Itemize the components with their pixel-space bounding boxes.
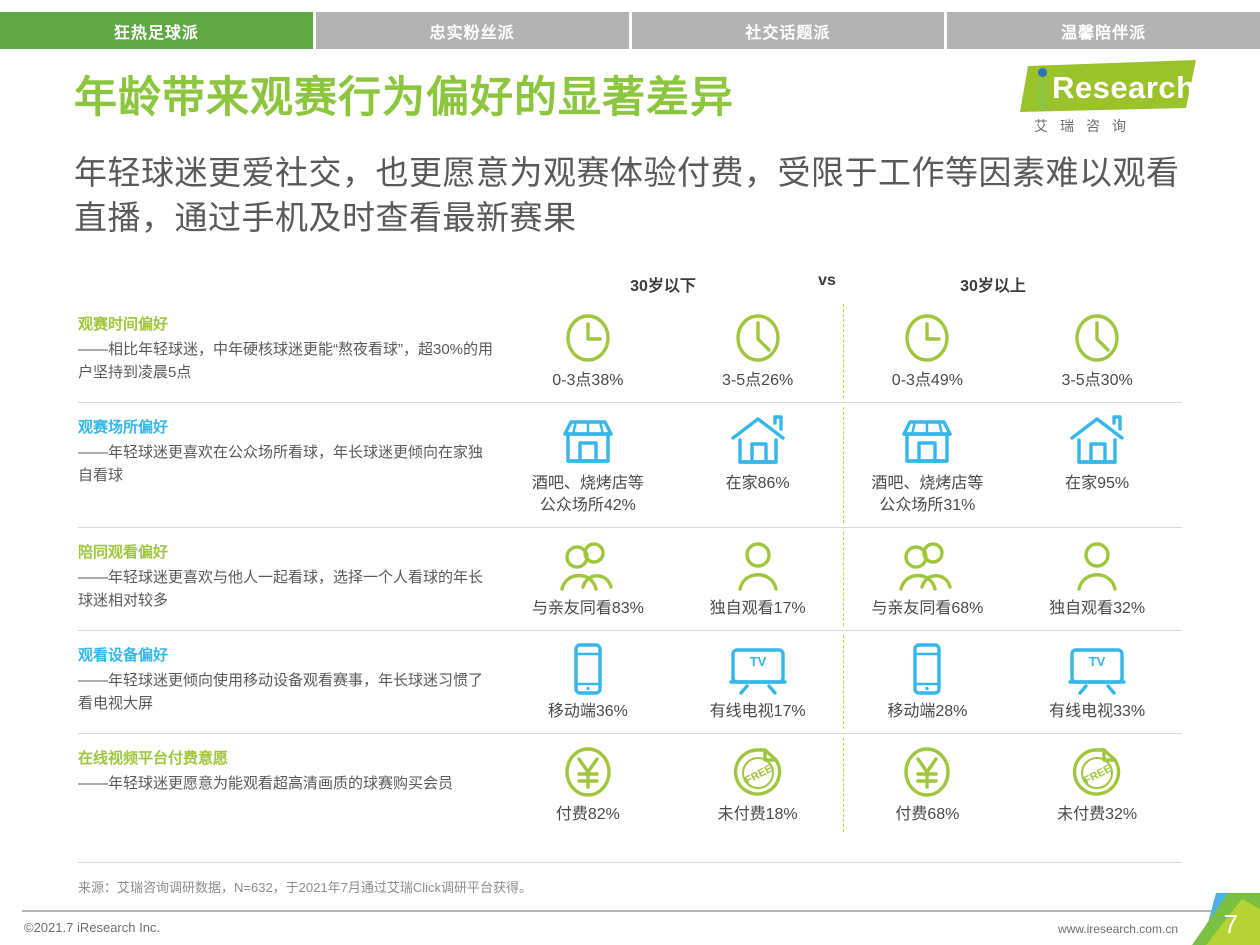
metric-label: 3-5点30% [1062,370,1133,392]
page-number: 7 [1224,911,1238,937]
shop-icon [896,413,958,469]
row-description: 在线视频平台付费意愿——年轻球迷更愿意为能观看超高清画质的球赛购买会员 [78,734,503,807]
row-body: ——相比年轻球迷，中年硬核球迷更能“熬夜看球”，超30%的用户坚持到凌晨5点 [78,338,493,384]
row-body: ——年轻球迷更倾向使用移动设备观看赛事，年长球迷习惯了看电视大屏 [78,669,493,715]
tab-1[interactable]: 忠实粉丝派 [316,12,629,49]
yen-coin-icon [900,744,954,800]
row-description: 陪同观看偏好——年轻球迷更喜欢与他人一起看球，选择一个人看球的年长球迷相对较多 [78,528,503,624]
svg-text:TV: TV [749,654,766,669]
metric-cell: 独自观看17% [673,528,843,630]
row-body: ——年轻球迷更愿意为能观看超高清画质的球赛购买会员 [78,772,493,795]
tv-icon: TV [727,641,789,697]
matrix-row: 观看设备偏好——年轻球迷更倾向使用移动设备观看赛事，年长球迷习惯了看电视大屏移动… [78,630,1182,733]
column-header-vs: vs [782,272,872,290]
comparison-matrix: 观赛时间偏好——相比年轻球迷，中年硬核球迷更能“熬夜看球”，超30%的用户坚持到… [78,300,1182,836]
two-people-icon [557,538,619,594]
row-body: ——年轻球迷更喜欢与他人一起看球，选择一个人看球的年长球迷相对较多 [78,566,493,612]
metric-label: 0-3点49% [892,370,963,392]
mobile-phone-icon [908,641,946,697]
metric-label: 付费82% [556,804,620,826]
logo-research-text: Research [1052,70,1196,106]
row-title: 观赛时间偏好 [78,314,493,336]
metric-cell: 酒吧、烧烤店等公众场所42% [503,403,673,527]
row-description: 观看设备偏好——年轻球迷更倾向使用移动设备观看赛事，年长球迷习惯了看电视大屏 [78,631,503,727]
source-note: 来源：艾瑞咨询调研数据，N=632，于2021年7月通过艾瑞Click调研平台获… [78,878,1078,898]
row-cells: 与亲友同看83%独自观看17%与亲友同看68%独自观看32% [503,528,1182,630]
column-header-left: 30岁以下 [563,272,763,296]
metric-cell: FREE未付费18% [673,734,843,836]
metric-cell: 独自观看32% [1012,528,1182,630]
house-icon [728,413,788,469]
metric-cell: 0-3点38% [503,300,673,402]
metric-label: 有线电视17% [710,701,806,723]
tab-bar: 狂热足球派忠实粉丝派社交话题派温馨陪伴派 [0,12,1260,49]
footer-divider [22,910,1238,912]
row-body: ——年轻球迷更喜欢在公众场所看球，年长球迷更倾向在家独自看球 [78,441,493,487]
metric-cell: FREE未付费32% [1012,734,1182,836]
row-title: 观看设备偏好 [78,645,493,667]
two-people-icon [896,538,958,594]
free-sticker-icon: FREE [731,744,785,800]
clock-3oclock-icon [562,310,614,366]
logo-chinese-text: 艾瑞咨询 [1034,116,1198,136]
row-description: 观赛时间偏好——相比年轻球迷，中年硬核球迷更能“熬夜看球”，超30%的用户坚持到… [78,300,503,396]
metric-cell: 移动端36% [503,631,673,733]
tv-icon: TV [1066,641,1128,697]
iresearch-logo: Research 艾瑞咨询 [1018,60,1198,142]
group-divider [843,738,844,832]
metric-label: 0-3点38% [552,370,623,392]
metric-cell: 付费68% [843,734,1013,836]
metric-cell: 付费82% [503,734,673,836]
clock-3oclock-icon [901,310,953,366]
matrix-row: 陪同观看偏好——年轻球迷更喜欢与他人一起看球，选择一个人看球的年长球迷相对较多与… [78,527,1182,630]
metric-cell: 3-5点26% [673,300,843,402]
tab-2[interactable]: 社交话题派 [632,12,945,49]
group-divider [843,635,844,729]
metric-cell: 0-3点49% [843,300,1013,402]
row-title: 在线视频平台付费意愿 [78,748,493,770]
logo-i-dot-icon [1038,68,1047,77]
row-title: 陪同观看偏好 [78,542,493,564]
svg-text:TV: TV [1089,654,1106,669]
metric-label: 独自观看32% [1049,598,1145,620]
metric-label: 在家95% [1065,473,1129,495]
house-icon [1067,413,1127,469]
metric-label: 付费68% [895,804,959,826]
metric-label: 酒吧、烧烤店等公众场所42% [525,473,650,517]
metric-label: 有线电视33% [1049,701,1145,723]
matrix-row: 在线视频平台付费意愿——年轻球迷更愿意为能观看超高清画质的球赛购买会员付费82%… [78,733,1182,836]
metric-cell: 3-5点30% [1012,300,1182,402]
column-header-right: 30岁以上 [893,272,1093,296]
free-sticker-icon: FREE [1070,744,1124,800]
metric-cell: TV有线电视33% [1012,631,1182,733]
metric-label: 与亲友同看68% [871,598,983,620]
row-cells: 移动端36%TV有线电视17%移动端28%TV有线电视33% [503,631,1182,733]
slide: 狂热足球派忠实粉丝派社交话题派温馨陪伴派 年龄带来观赛行为偏好的显著差异 年轻球… [0,0,1260,945]
footer-copyright: ©2021.7 iResearch Inc. [24,920,160,935]
metric-label: 与亲友同看83% [532,598,644,620]
group-divider [843,407,844,523]
clock-5oclock-icon [1071,310,1123,366]
page-subtitle: 年轻球迷更爱社交，也更愿意为观赛体验付费，受限于工作等因素难以观看直播，通过手机… [74,150,1184,240]
yen-coin-icon [561,744,615,800]
shop-icon [557,413,619,469]
matrix-row: 观赛时间偏好——相比年轻球迷，中年硬核球迷更能“熬夜看球”，超30%的用户坚持到… [78,300,1182,402]
row-title: 观赛场所偏好 [78,417,493,439]
group-divider [843,532,844,626]
row-cells: 酒吧、烧烤店等公众场所42%在家86%酒吧、烧烤店等公众场所31%在家95% [503,403,1182,527]
metric-cell: 在家95% [1012,403,1182,505]
group-divider [843,304,844,398]
single-person-icon [1072,538,1122,594]
metric-label: 酒吧、烧烤店等公众场所31% [865,473,990,517]
row-cells: 付费82%FREE未付费18%付费68%FREE未付费32% [503,734,1182,836]
row-cells: 0-3点38%3-5点26%0-3点49%3-5点30% [503,300,1182,402]
metric-cell: 与亲友同看68% [843,528,1013,630]
source-divider [78,862,1182,863]
tab-0[interactable]: 狂热足球派 [0,12,313,49]
metric-label: 移动端28% [887,701,967,723]
logo-i-stem-icon [1038,80,1047,110]
metric-label: 3-5点26% [722,370,793,392]
corner-decoration-icon [1182,893,1260,945]
metric-cell: TV有线电视17% [673,631,843,733]
matrix-row: 观赛场所偏好——年轻球迷更喜欢在公众场所看球，年长球迷更倾向在家独自看球酒吧、烧… [78,402,1182,527]
metric-label: 未付费18% [718,804,798,826]
tab-3[interactable]: 温馨陪伴派 [947,12,1260,49]
page-title: 年龄带来观赛行为偏好的显著差异 [74,72,974,124]
metric-label: 未付费32% [1057,804,1137,826]
clock-5oclock-icon [732,310,784,366]
metric-cell: 移动端28% [843,631,1013,733]
row-description: 观赛场所偏好——年轻球迷更喜欢在公众场所看球，年长球迷更倾向在家独自看球 [78,403,503,499]
metric-label: 独自观看17% [710,598,806,620]
single-person-icon [733,538,783,594]
mobile-phone-icon [569,641,607,697]
metric-cell: 与亲友同看83% [503,528,673,630]
metric-label: 在家86% [726,473,790,495]
metric-label: 移动端36% [548,701,628,723]
footer-website: www.iresearch.com.cn [1058,922,1178,936]
metric-cell: 在家86% [673,403,843,505]
metric-cell: 酒吧、烧烤店等公众场所31% [843,403,1013,527]
